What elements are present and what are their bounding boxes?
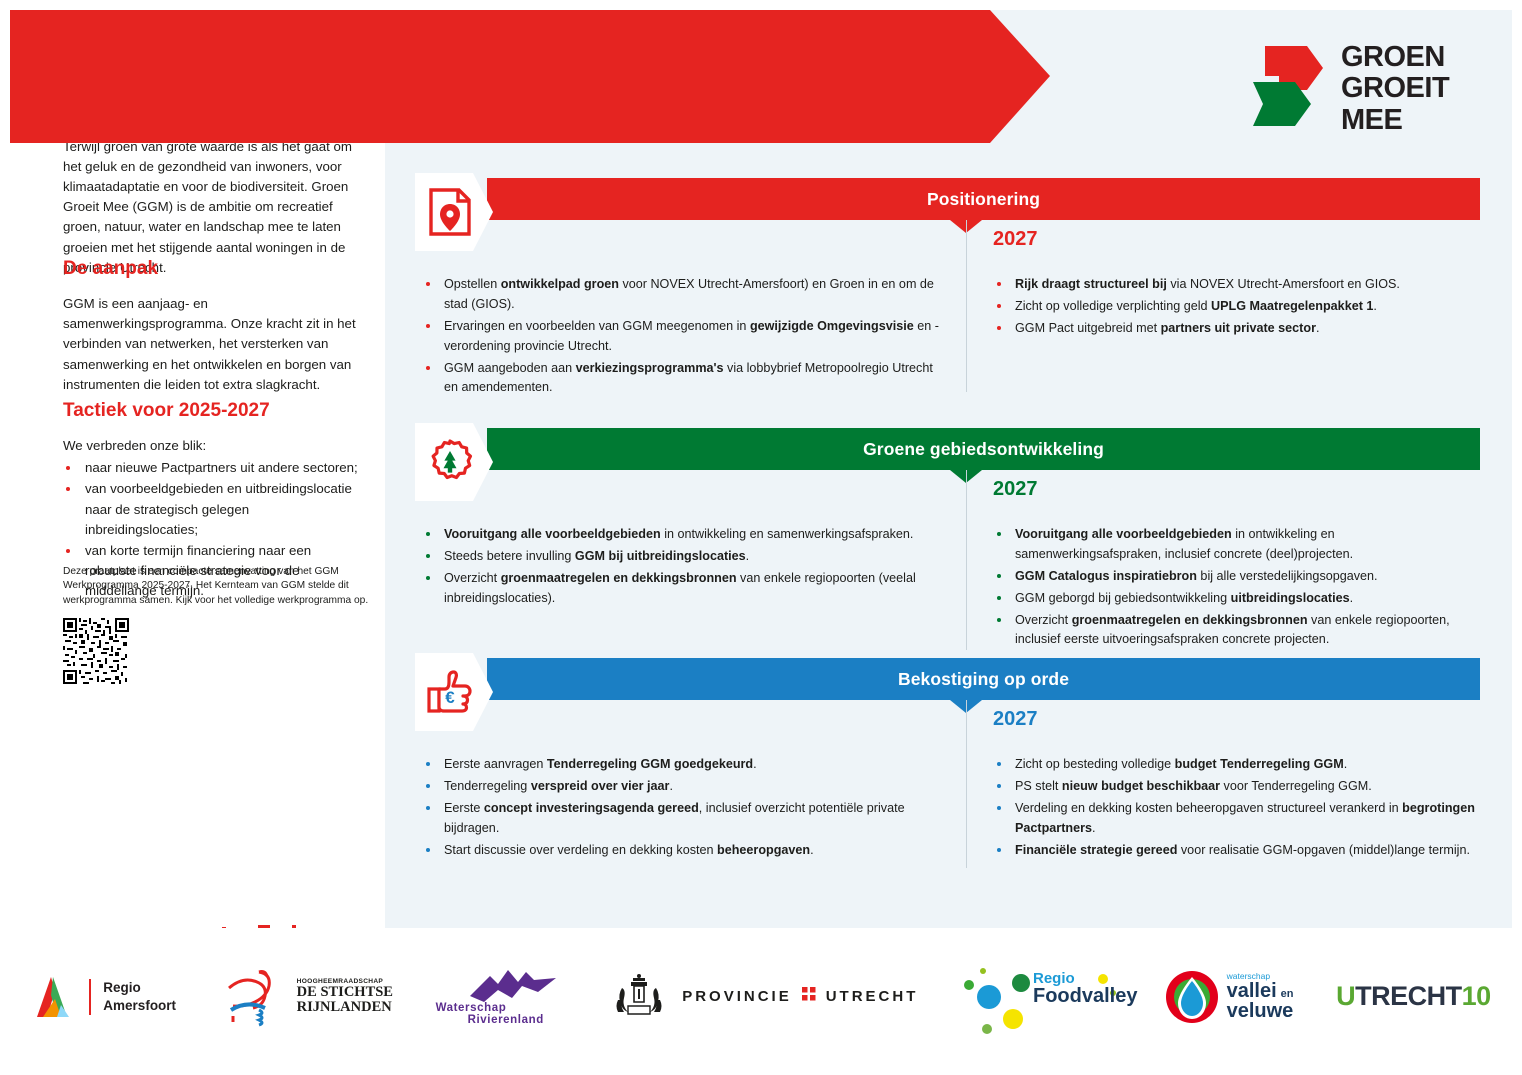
list-item: Eerste aanvragen Tenderregeling GGM goed… [422, 755, 942, 775]
year-label: 2027 [993, 708, 1480, 731]
column-2027: 2027 Vooruitgang alle voorbeeldgebieden … [993, 478, 1480, 652]
ggm-chevron-mark [1249, 42, 1329, 142]
list-item: Zicht op besteding volledige budget Tend… [993, 755, 1480, 775]
list-item: PS stelt nieuw budget beschikbaar voor T… [993, 777, 1480, 797]
sidebar-paragraph-aanpak: GGM is een aanjaag- en samenwerkingsprog… [63, 294, 363, 395]
column-2026: 2026 Eerste aanvragen Tenderregeling GGM… [422, 708, 942, 862]
sidebar-fineprint: Deze praatplaat is een compacte samenvat… [63, 565, 375, 608]
section-column-divider [966, 220, 967, 392]
ggm-logo: GROEN GROEIT MEE [1249, 38, 1464, 148]
bullet-list: Vooruitgang alle voorbeeldgebieden in on… [422, 525, 942, 609]
section-header-bar-bekostiging-op-orde: Bekostiging op orde [487, 658, 1480, 700]
list-item: Steeds betere invulling GGM bij uitbreid… [422, 547, 942, 567]
ggm-logo-wordmark: GROEN GROEIT MEE [1341, 42, 1449, 136]
list-item: Overzicht groenmaatregelen en dekkingsbr… [422, 569, 942, 609]
regio-amersfoort-line1: Regio [103, 979, 176, 997]
section-positionering: Positionering 2026 Opstellen ontwikkelpa… [415, 178, 1480, 220]
sidebar-block-aanpak: De aanpak GGM is een aanjaag- en samenwe… [63, 258, 363, 395]
bullet-list: Rijk draagt structureel bij via NOVEX Ut… [993, 275, 1480, 339]
list-item: Eerste concept investeringsagenda gereed… [422, 799, 942, 839]
hhrs-line1: DE STICHTSE [297, 985, 393, 1000]
list-item: van voorbeeldgebieden en uitbreidingsloc… [63, 479, 363, 540]
sidebar-heading-aanpak: De aanpak [63, 258, 363, 280]
waterschap-rivierenland-logo: Waterschap Rivierenland [436, 952, 566, 1042]
qr-code-icon[interactable] [63, 618, 129, 684]
section-bekostiging-op-orde: Bekostiging op orde € 2026 Eerste aanvra… [415, 658, 1480, 700]
list-item: GGM Catalogus inspiratiebron bij alle ve… [993, 567, 1480, 587]
sidebar-tactiek-intro: We verbreden onze blik: [63, 436, 363, 456]
list-item: Tenderregeling verspreid over vier jaar. [422, 777, 942, 797]
section-title-bekostiging-op-orde: Bekostiging op orde [487, 658, 1480, 700]
section-column-divider [966, 470, 967, 650]
list-item: GGM geborgd bij gebiedsontwikkeling uitb… [993, 589, 1480, 609]
list-item: Zicht op volledige verplichting geld UPL… [993, 297, 1480, 317]
list-item: GGM aangeboden aan verkiezingsprogramma'… [422, 359, 942, 399]
bullet-list: Zicht op besteding volledige budget Tend… [993, 755, 1480, 860]
list-item: naar nieuwe Pactpartners uit andere sect… [63, 458, 363, 478]
utrecht10-line1: TRECHT [1355, 981, 1462, 1012]
list-item: Ervaringen en voorbeelden van GGM meegen… [422, 317, 942, 357]
sidebar-fineprint-block: Deze praatplaat is een compacte samenvat… [63, 565, 375, 684]
list-item: Start discussie over verdeling en dekkin… [422, 841, 942, 861]
year-label: 2026 [422, 478, 942, 501]
hoogheemraadschap-de-stichtse-rijnlanden-logo: HOOGHEEMRAADSCHAP DE STICHTSE RIJNLANDEN [219, 952, 393, 1042]
coat-of-arms-icon [608, 974, 670, 1020]
waterschap-vallei-en-veluwe-logo: waterschap vallei en veluwe [1164, 952, 1294, 1042]
poster-page: Het doel Steeds meer mensen willen wonen… [10, 10, 1512, 1065]
rivierenland-line2: Rivierenland [468, 1014, 544, 1026]
vallei-label: vallei [1227, 981, 1277, 1001]
ggm-logo-line3: MEE [1341, 105, 1449, 136]
list-item: Verdeling en dekking kosten beheeropgave… [993, 799, 1480, 839]
provincie-utrecht-logo: PROVINCIE UTRECHT [608, 952, 918, 1042]
en-label: en [1281, 988, 1294, 1000]
footer-partner-logos: Regio Amersfoort HOOGHEEMRAADSCHAP DE ST… [10, 928, 1512, 1065]
provincie-dots-icon [802, 987, 816, 1006]
year-label: 2027 [993, 478, 1480, 501]
regio-amersfoort-logo: Regio Amersfoort [31, 952, 176, 1042]
section-column-divider [966, 700, 967, 868]
rivierenland-mark-icon [464, 966, 564, 1006]
utrecht10-logo: U TRECHT 10 [1336, 952, 1491, 1042]
section-header-bar-groene-gebiedsontwikkeling: Groene gebiedsontwikkeling [487, 428, 1480, 470]
provincie-label: PROVINCIE [682, 988, 792, 1005]
regio-amersfoort-line2: Amersfoort [103, 997, 176, 1015]
bullet-list: Eerste aanvragen Tenderregeling GGM goed… [422, 755, 942, 860]
section-header-bar-positionering: Positionering [487, 178, 1480, 220]
year-label: 2027 [993, 228, 1480, 251]
column-2026: 2026 Vooruitgang alle voorbeeldgebieden … [422, 478, 942, 611]
veluwe-label: veluwe [1227, 1001, 1294, 1021]
logo-divider-rule [89, 979, 91, 1015]
swan-icon [219, 966, 291, 1028]
list-item: Overzicht groenmaatregelen en dekkingsbr… [993, 611, 1480, 651]
rivierenland-line1: Waterschap [436, 1002, 507, 1014]
section-title-positionering: Positionering [487, 178, 1480, 220]
section-groene-gebiedsontwikkeling: Groene gebiedsontwikkeling 2026 Vooruitg… [415, 428, 1480, 470]
hhrs-line2: RIJNLANDEN [297, 1000, 393, 1015]
year-label: 2026 [422, 708, 942, 731]
bullet-list: Vooruitgang alle voorbeeldgebieden in on… [993, 525, 1480, 650]
sidebar-heading-tactiek: Tactiek voor 2025-2027 [63, 400, 363, 422]
regio-foodvalley-logo: Regio Foodvalley [961, 952, 1121, 1042]
svg-text:€: € [445, 688, 455, 707]
list-item: Financiële strategie gereed voor realisa… [993, 841, 1480, 861]
list-item: Opstellen ontwikkelpad groen voor NOVEX … [422, 275, 942, 315]
utrecht-label: UTRECHT [826, 988, 919, 1005]
column-2027: 2027 Rijk draagt structureel bij via NOV… [993, 228, 1480, 341]
bullet-list: Opstellen ontwikkelpad groen voor NOVEX … [422, 275, 942, 398]
poster-root: Het doel Steeds meer mensen willen wonen… [0, 0, 1522, 1075]
column-2026: 2026 Opstellen ontwikkelpad groen voor N… [422, 228, 942, 400]
list-item: Vooruitgang alle voorbeeldgebieden in on… [422, 525, 942, 545]
list-item: Vooruitgang alle voorbeeldgebieden in on… [993, 525, 1480, 565]
foodvalley-line2: Foodvalley [1033, 986, 1137, 1006]
section-title-groene-gebiedsontwikkeling: Groene gebiedsontwikkeling [487, 428, 1480, 470]
utrecht10-u: U [1336, 981, 1355, 1012]
year-label: 2026 [422, 228, 942, 251]
header-banner [10, 10, 1050, 143]
ggm-logo-line1: GROEN [1341, 42, 1449, 73]
list-item: Rijk draagt structureel bij via NOVEX Ut… [993, 275, 1480, 295]
sidebar-panel: Het doel Steeds meer mensen willen wonen… [10, 10, 385, 928]
foodvalley-line1: Regio [1033, 971, 1075, 986]
utrecht10-line2: 10 [1462, 981, 1491, 1012]
ggm-logo-line2: GROEIT [1341, 73, 1449, 104]
list-item: GGM Pact uitgebreid met partners uit pri… [993, 319, 1480, 339]
column-2027: 2027 Zicht op besteding volledige budget… [993, 708, 1480, 862]
vallei-veluwe-droplet-icon [1164, 969, 1220, 1025]
